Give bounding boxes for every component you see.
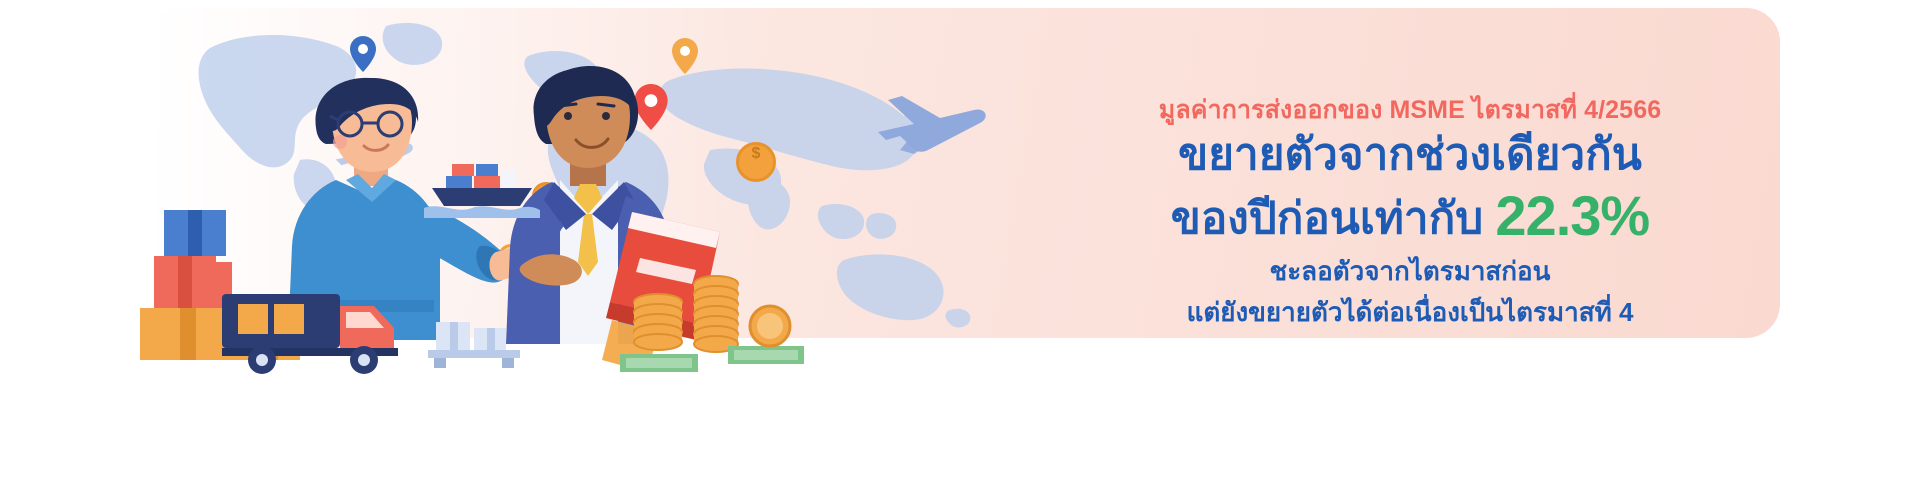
growth-percent-value: 22.3% — [1495, 184, 1649, 247]
infographic-banner: $ $ $ — [0, 0, 1920, 480]
headline-line-2: ของปีก่อนเท่ากับ 22.3% — [1060, 185, 1760, 248]
headline-line-2-prefix: ของปีก่อนเท่ากับ — [1171, 194, 1483, 243]
banner-text-block: มูลค่าการส่งออกของ MSME ไตรมาสที่ 4/2566… — [1060, 96, 1760, 330]
sub-line-1: ชะลอตัวจากไตรมาสก่อน — [1060, 255, 1760, 289]
banknotes-icon — [620, 268, 820, 378]
pallet-icon — [424, 316, 544, 372]
cargo-ship-icon — [424, 160, 540, 218]
headline-line-1: ขยายตัวจากช่วงเดียวกัน — [1060, 130, 1760, 179]
sub-line-2: แต่ยังขยายตัวได้ต่อเนื่องเป็นไตรมาสที่ 4 — [1060, 296, 1760, 330]
kicker-line: มูลค่าการส่งออกของ MSME ไตรมาสที่ 4/2566 — [1060, 96, 1760, 124]
delivery-truck-icon — [222, 282, 422, 378]
